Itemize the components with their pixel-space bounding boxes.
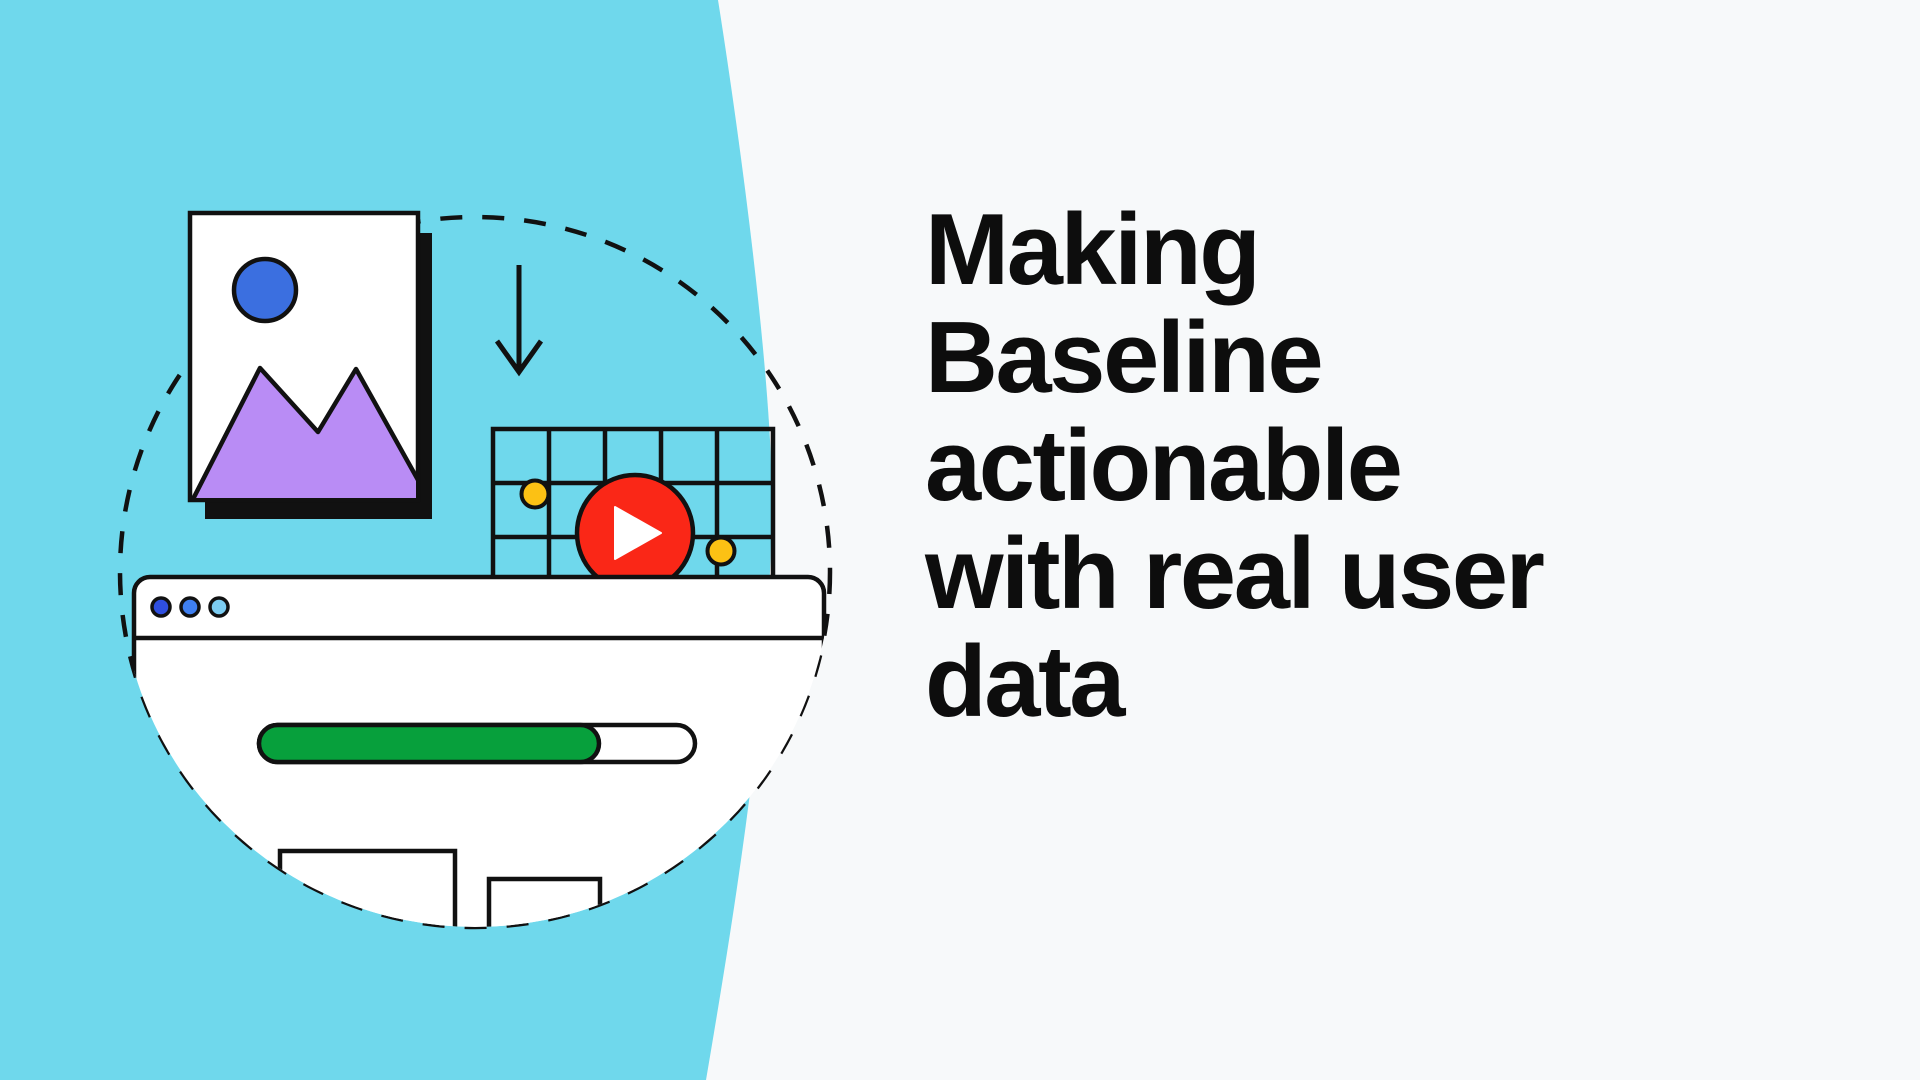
hero-canvas: Making Baseline actionable with real use… — [0, 0, 1920, 1080]
title-line-4: with real user — [925, 520, 1805, 628]
traffic-light-maximize[interactable] — [210, 598, 228, 616]
content-block — [280, 851, 455, 961]
hero-title: Making Baseline actionable with real use… — [925, 196, 1805, 736]
sun-icon — [234, 259, 296, 321]
traffic-light-minimize[interactable] — [181, 598, 199, 616]
title-line-3: actionable — [925, 412, 1805, 520]
grid-dot-icon — [522, 481, 549, 508]
title-line-2: Baseline — [925, 304, 1805, 412]
browser-window — [134, 577, 824, 977]
video-play-button[interactable] — [577, 475, 693, 591]
title-line-5: data — [925, 628, 1805, 736]
download-arrow-icon — [497, 265, 541, 372]
content-block — [489, 879, 600, 961]
traffic-light-close[interactable] — [152, 598, 170, 616]
grid-dot-icon — [708, 538, 735, 565]
image-placeholder-card — [190, 213, 432, 519]
progress-fill — [259, 725, 599, 762]
title-line-1: Making — [925, 196, 1805, 304]
